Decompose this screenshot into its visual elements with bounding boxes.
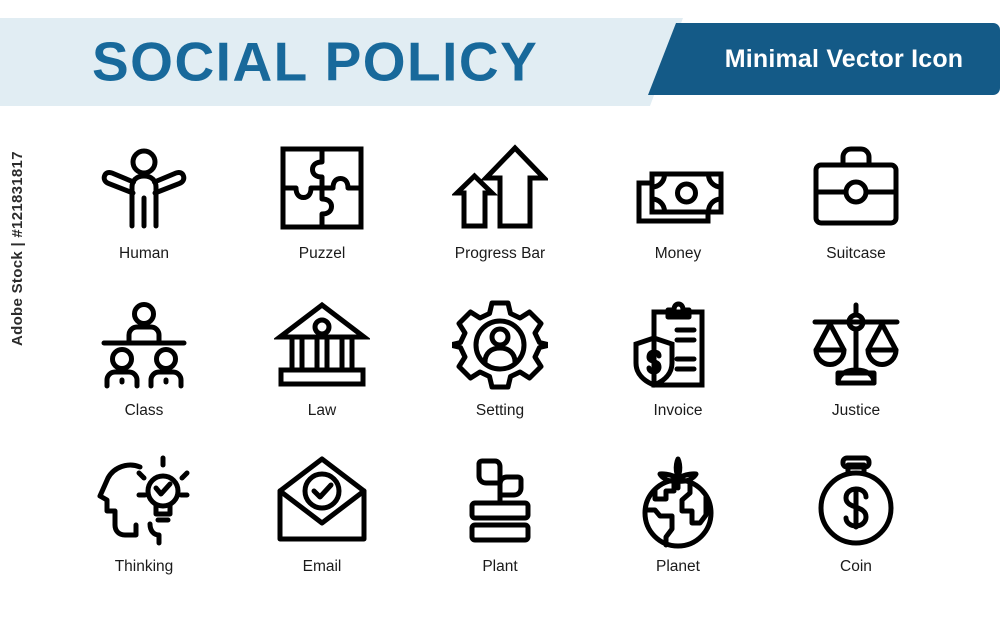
law-icon	[274, 297, 370, 393]
icon-cell-money[interactable]: Money	[589, 130, 767, 287]
icon-cell-invoice[interactable]: Invoice	[589, 287, 767, 444]
icon-label: Invoice	[653, 403, 702, 419]
money-icon	[630, 140, 726, 236]
icon-label: Coin	[840, 559, 872, 575]
icon-cell-email[interactable]: Email	[233, 443, 411, 600]
icon-cell-class[interactable]: Class	[55, 287, 233, 444]
human-icon	[96, 140, 192, 236]
setting-icon	[452, 297, 548, 393]
icon-cell-plant[interactable]: Plant	[411, 443, 589, 600]
invoice-icon	[630, 297, 726, 393]
icon-cell-progress-bar[interactable]: Progress Bar	[411, 130, 589, 287]
icon-cell-setting[interactable]: Setting	[411, 287, 589, 444]
icon-label: Class	[125, 403, 164, 419]
icon-label: Email	[303, 559, 342, 575]
icon-label: Planet	[656, 559, 700, 575]
icon-label: Money	[655, 246, 702, 262]
planet-icon	[630, 453, 726, 549]
email-icon	[274, 453, 370, 549]
progress-bar-icon	[452, 140, 548, 236]
icon-label: Suitcase	[826, 246, 885, 262]
icon-label: Progress Bar	[455, 246, 545, 262]
header-badge-label: Minimal Vector Icon	[694, 23, 994, 95]
icon-cell-coin[interactable]: Coin	[767, 443, 945, 600]
icon-label: Puzzel	[299, 246, 346, 262]
icon-label: Plant	[482, 559, 517, 575]
icon-cell-suitcase[interactable]: Suitcase	[767, 130, 945, 287]
icon-cell-thinking[interactable]: Thinking	[55, 443, 233, 600]
class-icon	[96, 297, 192, 393]
icon-label: Setting	[476, 403, 524, 419]
page-title: SOCIAL POLICY	[92, 35, 538, 90]
thinking-icon	[96, 453, 192, 549]
suitcase-icon	[808, 140, 904, 236]
page-header: SOCIAL POLICY Minimal Vector Icon	[0, 18, 1000, 106]
justice-icon	[808, 297, 904, 393]
icon-cell-human[interactable]: Human	[55, 130, 233, 287]
puzzle-icon	[274, 140, 370, 236]
icon-label: Law	[308, 403, 336, 419]
icon-label: Thinking	[115, 559, 174, 575]
icon-grid: Human Puzzel Progress Bar	[55, 130, 945, 600]
plant-icon	[452, 453, 548, 549]
icon-cell-puzzle[interactable]: Puzzel	[233, 130, 411, 287]
icon-cell-planet[interactable]: Planet	[589, 443, 767, 600]
icon-label: Justice	[832, 403, 880, 419]
icon-cell-law[interactable]: Law	[233, 287, 411, 444]
coin-icon	[808, 453, 904, 549]
adobe-stock-watermark: Adobe Stock | #121831817	[0, 46, 34, 346]
icon-cell-justice[interactable]: Justice	[767, 287, 945, 444]
icon-label: Human	[119, 246, 169, 262]
